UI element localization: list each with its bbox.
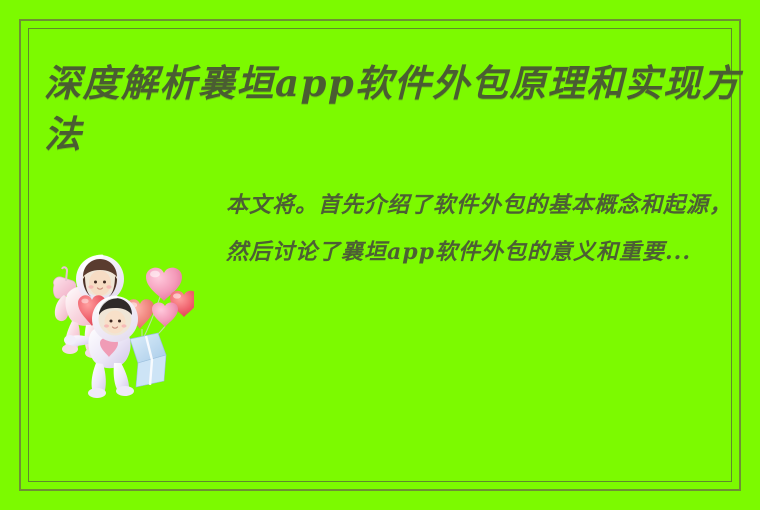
- heart-balloon-pink-small: [152, 302, 178, 327]
- article-summary: 本文将。首先介绍了软件外包的基本概念和起源，然后讨论了襄垣app软件外包的意义和…: [226, 182, 734, 276]
- poster-canvas: 深度解析襄垣app软件外包原理和实现方法 本文将。首先介绍了软件外包的基本概念和…: [0, 0, 760, 510]
- article-headline: 深度解析襄垣app软件外包原理和实现方法: [44, 58, 744, 160]
- illustration-astronauts: [42, 243, 194, 401]
